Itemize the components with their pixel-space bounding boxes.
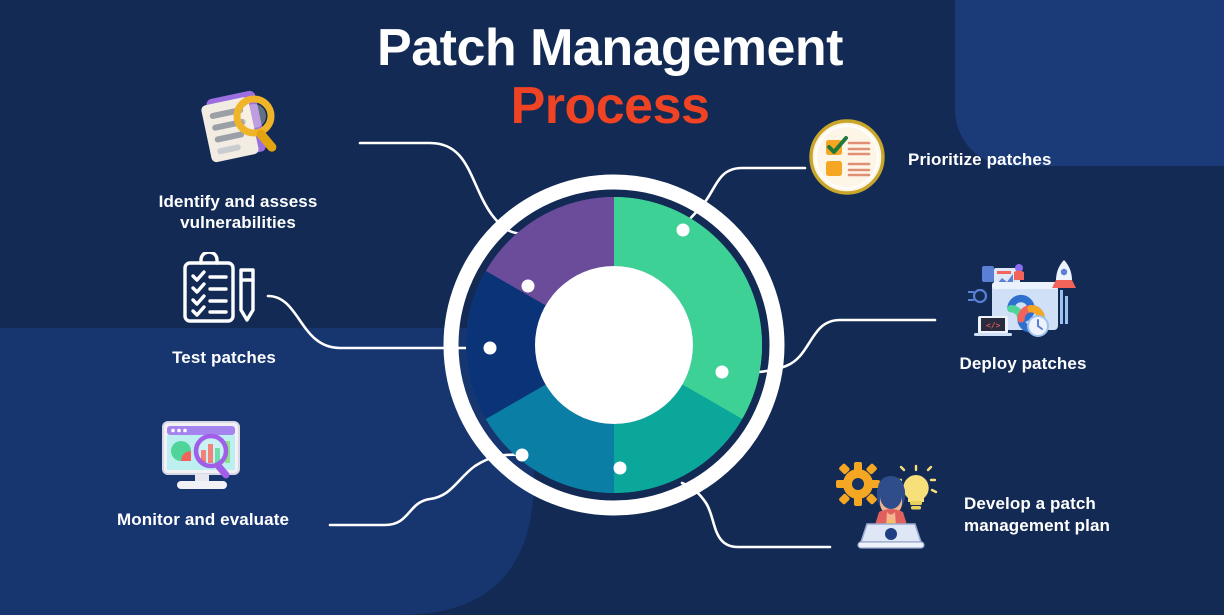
donut-dot-test — [484, 342, 497, 355]
step-monitor-and-evaluate[interactable]: Monitor and evaluate — [92, 418, 314, 530]
step-prioritize-label: Prioritize patches — [908, 149, 1052, 170]
step-plan-label: Develop a patch management plan — [964, 493, 1164, 536]
step-plan-label-line1: Develop a patch — [964, 493, 1164, 514]
process-donut-chart — [438, 169, 790, 521]
donut-dot-identify — [522, 280, 535, 293]
page-title: Patch Management Process — [300, 22, 920, 132]
step-identify-label: Identify and assess vulnerabilities — [108, 191, 368, 234]
step-deploy-patches[interactable]: </> Deploy patches — [930, 256, 1116, 374]
title-line-1: Patch Management — [300, 22, 920, 74]
donut-dot-deploy — [716, 366, 729, 379]
monitor-analytics-magnifier-icon — [92, 418, 314, 497]
step-test-patches[interactable]: Test patches — [132, 252, 316, 368]
donut-center-hub — [535, 266, 693, 424]
step-deploy-label: Deploy patches — [930, 353, 1116, 374]
step-identify-label-line1: Identify and assess — [108, 191, 368, 212]
clipboard-pencil-icon — [132, 252, 316, 335]
donut-dot-plan — [614, 462, 627, 475]
step-monitor-label: Monitor and evaluate — [92, 509, 314, 530]
donut-dot-prioritize — [677, 224, 690, 237]
svg-text:</>: </> — [986, 321, 1001, 330]
step-identify-label-line2: vulnerabilities — [108, 212, 368, 233]
step-develop-a-patch-management-plan[interactable]: Develop a patch management plan — [836, 462, 1164, 567]
step-plan-label-line2: management plan — [964, 515, 1164, 536]
devops-infinity-icon: </> — [930, 256, 1116, 343]
infographic-canvas: Patch Management Process — [0, 0, 1224, 615]
donut-dot-monitor — [516, 449, 529, 462]
title-line-2: Process — [300, 80, 920, 132]
step-test-label: Test patches — [132, 347, 316, 368]
person-laptop-gear-bulb-icon — [836, 462, 946, 567]
